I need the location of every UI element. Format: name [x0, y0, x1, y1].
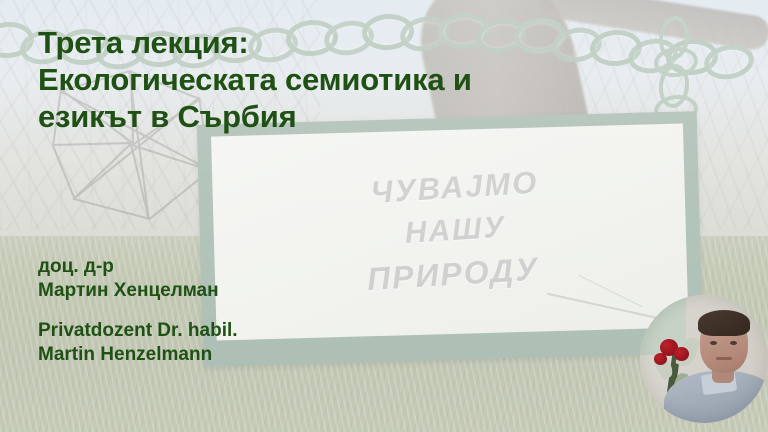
title-line-2: Екологическата семиотика и — [38, 61, 678, 98]
credits-bulgarian: доц. д-р Мартин Хенцелман — [38, 255, 368, 303]
lecture-title-slide: ЧУВАЈМО НАШУ ПРИРОДУ Трета лекция: Еколо… — [0, 0, 768, 432]
slide-title: Трета лекция: Екологическата семиотика и… — [38, 24, 678, 135]
credits-german: Privatdozent Dr. habil. Martin Henzelman… — [38, 319, 368, 367]
credits-bg-line-1: доц. д-р — [38, 255, 368, 279]
title-line-1: Трета лекция: — [38, 24, 678, 61]
avatar — [640, 295, 768, 423]
credits-de-line-1: Privatdozent Dr. habil. — [38, 319, 368, 343]
speaker-credits: доц. д-р Мартин Хенцелман Privatdozent D… — [38, 255, 368, 367]
credits-de-line-2: Martin Henzelmann — [38, 343, 368, 367]
credits-bg-line-2: Мартин Хенцелман — [38, 279, 368, 303]
avatar-vignette — [640, 295, 768, 423]
title-line-3: езикът в Сърбия — [38, 98, 678, 135]
